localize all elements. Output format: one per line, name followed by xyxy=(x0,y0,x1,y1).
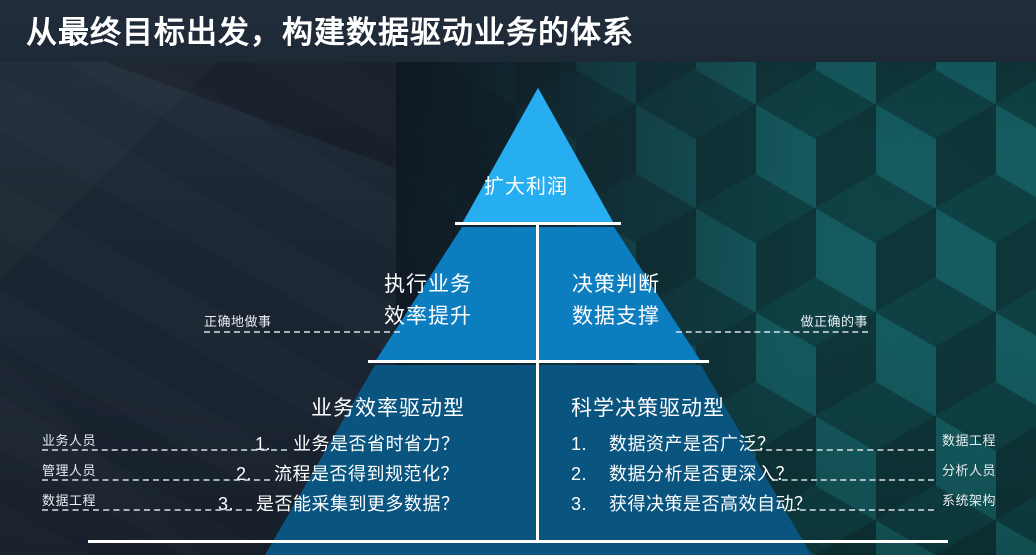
middle-left-line1: 执行业务 xyxy=(384,270,472,300)
base-right-item-2: 2.数据分析是否更深入？ xyxy=(571,460,794,486)
role-right-2: 分析人员 xyxy=(930,460,996,479)
base-left-item-2: 2.流程是否得到规范化？ xyxy=(236,460,459,486)
base-right-item-2-num: 2. xyxy=(571,464,609,485)
base-right-heading: 科学决策驱动型 xyxy=(571,392,725,422)
base-right-item-3-num: 3. xyxy=(571,494,609,515)
annotation-middle-left: 正确地做事 xyxy=(204,311,272,330)
apex-label: 扩大利润 xyxy=(484,170,568,199)
separator-vertical xyxy=(536,222,539,542)
base-left-item-1: 1.业务是否省时省力？ xyxy=(255,430,460,456)
base-right-item-2-text: 数据分析是否更深入？ xyxy=(609,464,794,484)
base-right-item-1: 1.数据资产是否广泛？ xyxy=(571,430,776,456)
base-left-item-3: 3.是否能采集到更多数据？ xyxy=(218,490,460,516)
dashline-middle-right xyxy=(676,331,868,333)
base-left-item-2-num: 2. xyxy=(236,464,274,485)
base-left-item-3-num: 3. xyxy=(218,494,256,515)
dashline-left-3 xyxy=(42,509,252,511)
pyramid-diagram xyxy=(0,0,1036,555)
base-right-item-3: 3.获得决策是否高效自动？ xyxy=(571,490,813,516)
middle-right-line2: 数据支撑 xyxy=(572,302,660,332)
role-right-1: 数据工程 xyxy=(930,430,996,449)
dashline-right-3 xyxy=(790,509,934,511)
base-right-item-3-text: 获得决策是否高效自动？ xyxy=(609,494,813,514)
annotation-middle-right: 做正确的事 xyxy=(768,311,868,330)
pyramid-tier-apex-fill xyxy=(463,88,613,222)
dashline-left-2 xyxy=(42,479,270,481)
base-left-item-1-num: 1. xyxy=(255,434,293,455)
dashline-middle-left xyxy=(204,331,400,333)
role-left-2: 管理人员 xyxy=(42,460,96,479)
dashline-right-1 xyxy=(756,449,934,451)
base-right-item-1-num: 1. xyxy=(571,434,609,455)
middle-left-line2: 效率提升 xyxy=(384,302,472,332)
base-right-item-1-text: 数据资产是否广泛？ xyxy=(609,434,776,454)
role-left-3: 数据工程 xyxy=(42,490,96,509)
separator-base-bottom xyxy=(88,540,948,543)
base-left-item-2-text: 流程是否得到规范化？ xyxy=(274,464,459,484)
dashline-left-1 xyxy=(42,449,287,451)
dashline-right-2 xyxy=(772,479,934,481)
role-right-3: 系统架构 xyxy=(930,490,996,509)
slide-canvas: 从最终目标出发，构建数据驱动业务的体系 扩大利润 执行业务 效率提升 决策判断 … xyxy=(0,0,1036,555)
middle-right-line1: 决策判断 xyxy=(572,270,660,300)
base-left-heading: 业务效率驱动型 xyxy=(311,392,465,422)
base-left-item-1-text: 业务是否省时省力？ xyxy=(293,434,460,454)
role-left-1: 业务人员 xyxy=(42,430,96,449)
base-left-item-3-text: 是否能采集到更多数据？ xyxy=(256,494,460,514)
